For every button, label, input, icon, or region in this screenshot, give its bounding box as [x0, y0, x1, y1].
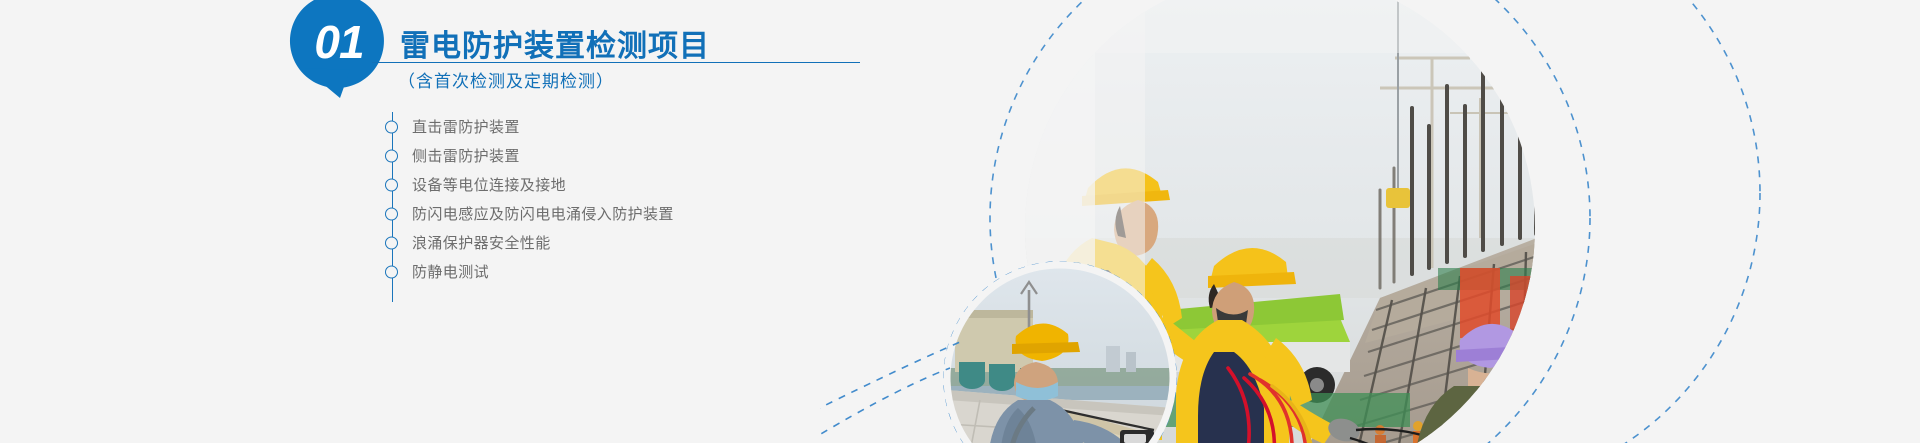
checklist-item-label: 浪涌保护器安全性能 [412, 232, 551, 253]
page-title: 雷电防护装置检测项目 [400, 21, 710, 65]
list-item: 防静电测试 [372, 257, 832, 286]
dashed-arc-decoration [820, 342, 960, 443]
checklist-item-label: 防闪电感应及防闪电电涌侵入防护装置 [412, 203, 674, 224]
timeline-dot-icon [385, 236, 398, 249]
timeline-dot-icon [385, 149, 398, 162]
section-number: 01 [288, 0, 386, 92]
timeline-dot-icon [385, 207, 398, 220]
timeline-dot-icon [385, 120, 398, 133]
checklist-item-label: 防静电测试 [412, 261, 489, 282]
list-item: 浪涌保护器安全性能 [372, 228, 832, 257]
list-item: 侧击雷防护装置 [372, 141, 832, 170]
list-item: 设备等电位连接及接地 [372, 170, 832, 199]
checklist-item-label: 直击雷防护装置 [412, 116, 520, 137]
worker-right [1494, 342, 1636, 443]
page-subtitle: （含首次检测及定期检测） [398, 67, 614, 92]
section-number-badge: 01 [288, 0, 386, 104]
checklist-item-label: 侧击雷防护装置 [412, 145, 520, 166]
timeline-dot-icon [385, 265, 398, 278]
list-item: 直击雷防护装置 [372, 112, 832, 141]
promo-banner: 01 雷电防护装置检测项目 （含首次检测及定期检测） 直击雷防护装置 侧击雷防护… [0, 0, 1920, 443]
checklist-timeline: 直击雷防护装置 侧击雷防护装置 设备等电位连接及接地 防闪电感应及防闪电电涌侵入… [372, 112, 832, 286]
list-item: 防闪电感应及防闪电电涌侵入防护装置 [372, 199, 832, 228]
checklist-item-label: 设备等电位连接及接地 [412, 174, 566, 195]
photo-collage [820, 0, 1920, 443]
timeline-dot-icon [385, 178, 398, 191]
